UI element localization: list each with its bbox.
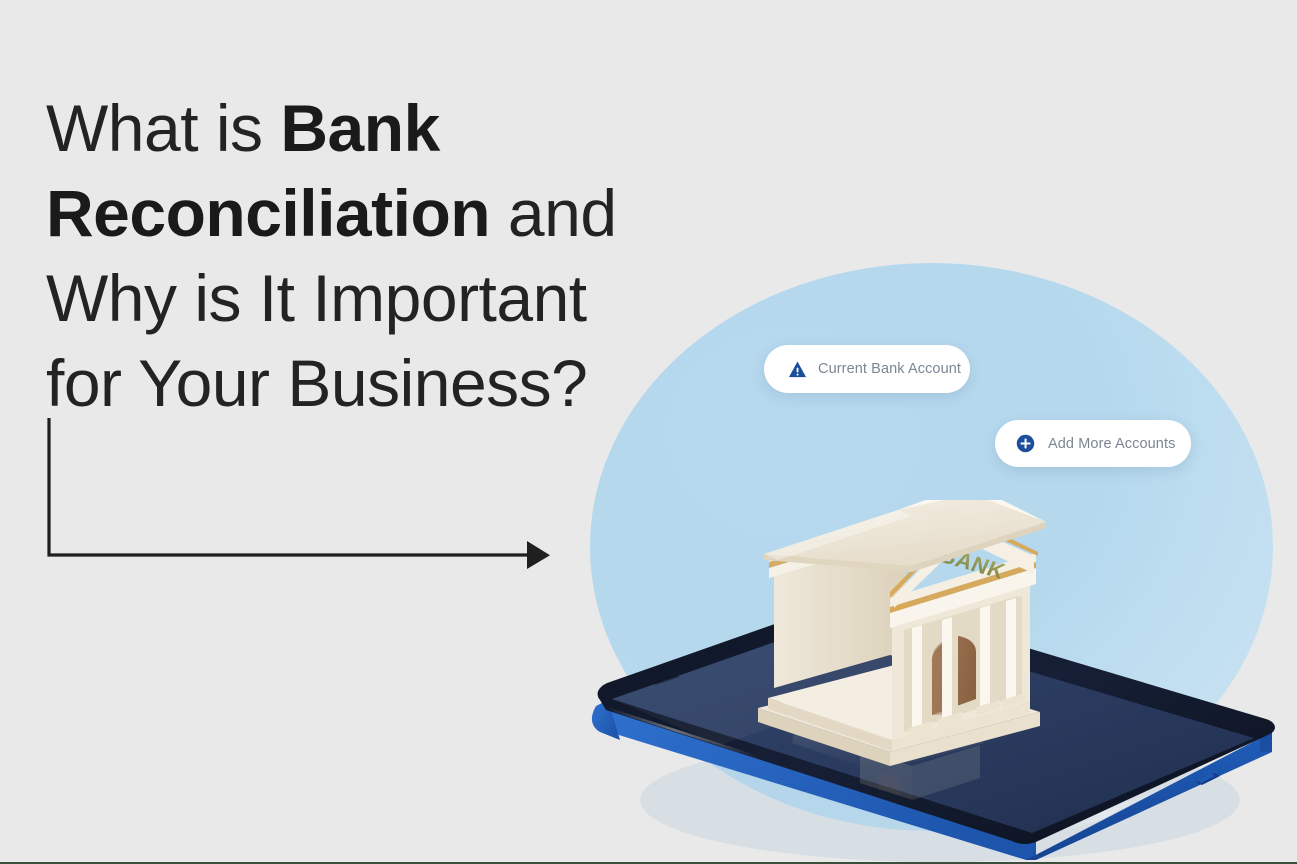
add-more-accounts-pill[interactable]: Add More Accounts [995,420,1191,467]
bank-phone-illustration: BANK [560,250,1297,864]
phone-bank-svg: BANK [560,500,1297,864]
current-bank-account-pill[interactable]: Current Bank Account [764,345,970,393]
headline-line3: Why is It Important [46,261,587,335]
add-more-accounts-label: Add More Accounts [1048,436,1175,452]
current-bank-account-label: Current Bank Account [818,361,961,377]
warning-triangle-icon [788,360,807,379]
headline-line1-bold: Bank [280,91,439,165]
headline-line2-light: and [490,176,616,250]
phone-with-bank-render: BANK [560,500,1297,864]
headline-line1-light: What is [46,91,280,165]
headline-line4: for Your Business? [46,346,587,420]
bank-building: BANK [758,500,1046,766]
hero-banner: What is Bank Reconciliation and Why is I… [0,0,1297,864]
headline-line2-bold: Reconciliation [46,176,490,250]
l-shaped-arrow-icon [40,410,560,570]
plus-circle-icon [1016,434,1035,453]
